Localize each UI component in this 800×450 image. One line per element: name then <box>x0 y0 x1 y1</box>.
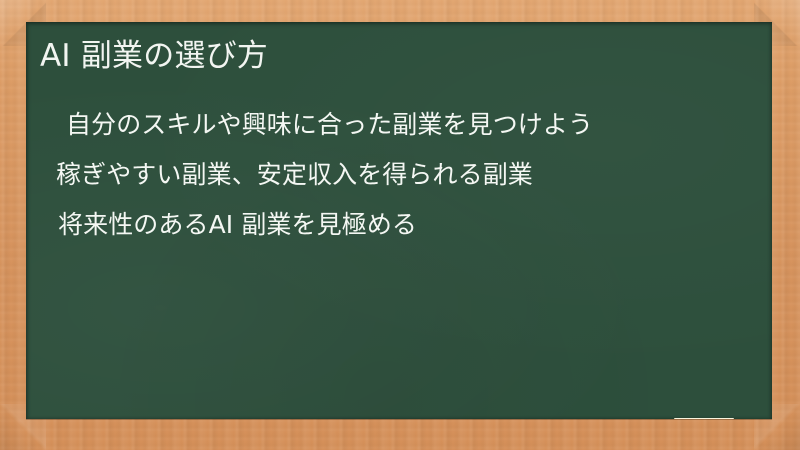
bullet-item: 自分のスキルや興味に合った副業を見つけよう <box>54 100 754 150</box>
bullet-item: 稼ぎやすい副業、安定収入を得られる副業 <box>54 150 754 200</box>
chalkboard-surface: AI 副業の選び方 自分のスキルや興味に合った副業を見つけよう 稼ぎやすい副業、… <box>26 22 772 419</box>
chalkboard-slide: AI 副業の選び方 自分のスキルや興味に合った副業を見つけよう 稼ぎやすい副業、… <box>0 0 800 450</box>
chalk-stick <box>674 418 734 419</box>
slide-title: AI 副業の選び方 <box>40 36 740 76</box>
bullet-list: 自分のスキルや興味に合った副業を見つけよう 稼ぎやすい副業、安定収入を得られる副… <box>54 100 754 250</box>
bullet-item: 将来性のあるAI 副業を見極める <box>54 200 754 250</box>
